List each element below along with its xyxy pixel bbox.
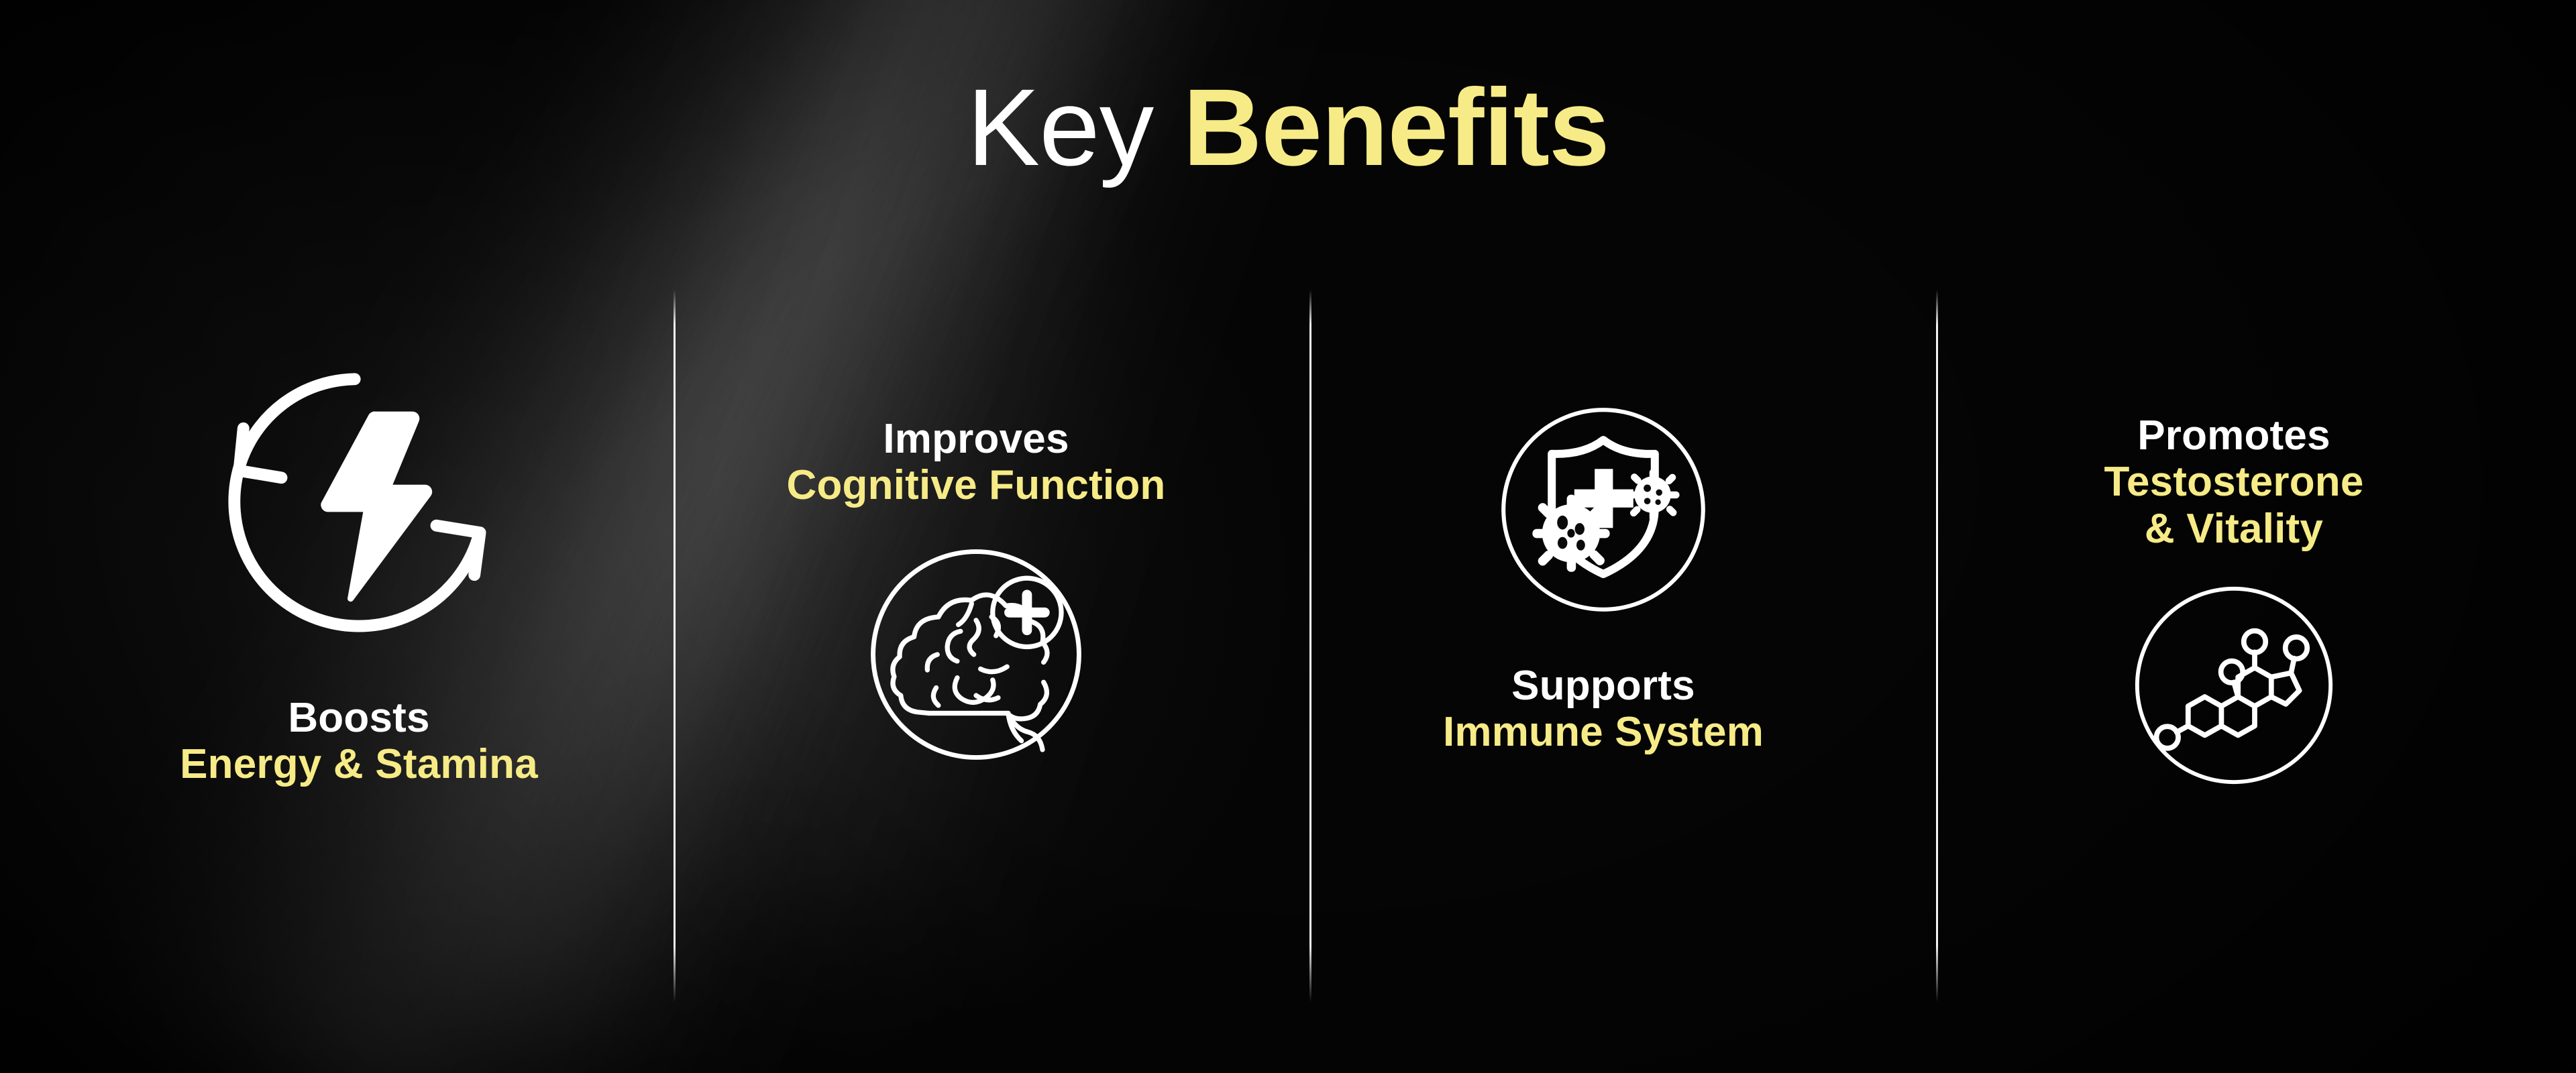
energy-cycle-bolt-icon: [218, 361, 500, 642]
key-benefits-banner: Key Benefits Boosts Energy & Stamina: [0, 0, 2576, 1073]
benefit-label-accent-cognitive: Cognitive Function: [787, 462, 1166, 508]
page-title-light: Key: [967, 66, 1153, 188]
benefit-label-top-cognitive: Improves: [787, 416, 1166, 462]
benefit-label-top-energy: Boosts: [180, 695, 538, 741]
benefit-labels-cognitive: Improves Cognitive Function: [787, 416, 1166, 509]
benefit-labels-energy: Boosts Energy & Stamina: [180, 695, 538, 788]
benefit-item-energy: Boosts Energy & Stamina: [84, 282, 634, 1033]
page-title-space: [1153, 66, 1183, 188]
benefit-label-accent-testosterone-line2: & Vitality: [2104, 506, 2363, 552]
testosterone-molecule-icon: [2130, 581, 2338, 789]
benefit-labels-testosterone: Promotes Testosterone & Vitality: [2104, 412, 2363, 552]
shield-virus-icon: [1496, 402, 1711, 617]
brain-plus-icon: [865, 544, 1087, 765]
benefit-label-accent-testosterone-line1: Testosterone: [2104, 459, 2363, 505]
benefit-item-testosterone: Promotes Testosterone & Vitality: [1966, 282, 2502, 1033]
benefit-label-accent-energy: Energy & Stamina: [180, 741, 538, 787]
benefit-label-accent-immune: Immune System: [1443, 709, 1764, 755]
benefit-labels-immune: Supports Immune System: [1443, 663, 1764, 756]
benefit-item-immune: Supports Immune System: [1335, 282, 1872, 1033]
column-divider-1: [674, 290, 676, 1002]
page-title-accent: Benefits: [1183, 66, 1609, 188]
benefit-item-cognitive: Improves Cognitive Function: [701, 282, 1251, 1033]
benefit-label-top-immune: Supports: [1443, 663, 1764, 709]
benefit-label-top-testosterone: Promotes: [2104, 412, 2363, 459]
page-title: Key Benefits: [0, 72, 2576, 182]
column-divider-2: [1309, 290, 1311, 1002]
column-divider-3: [1936, 290, 1938, 1002]
